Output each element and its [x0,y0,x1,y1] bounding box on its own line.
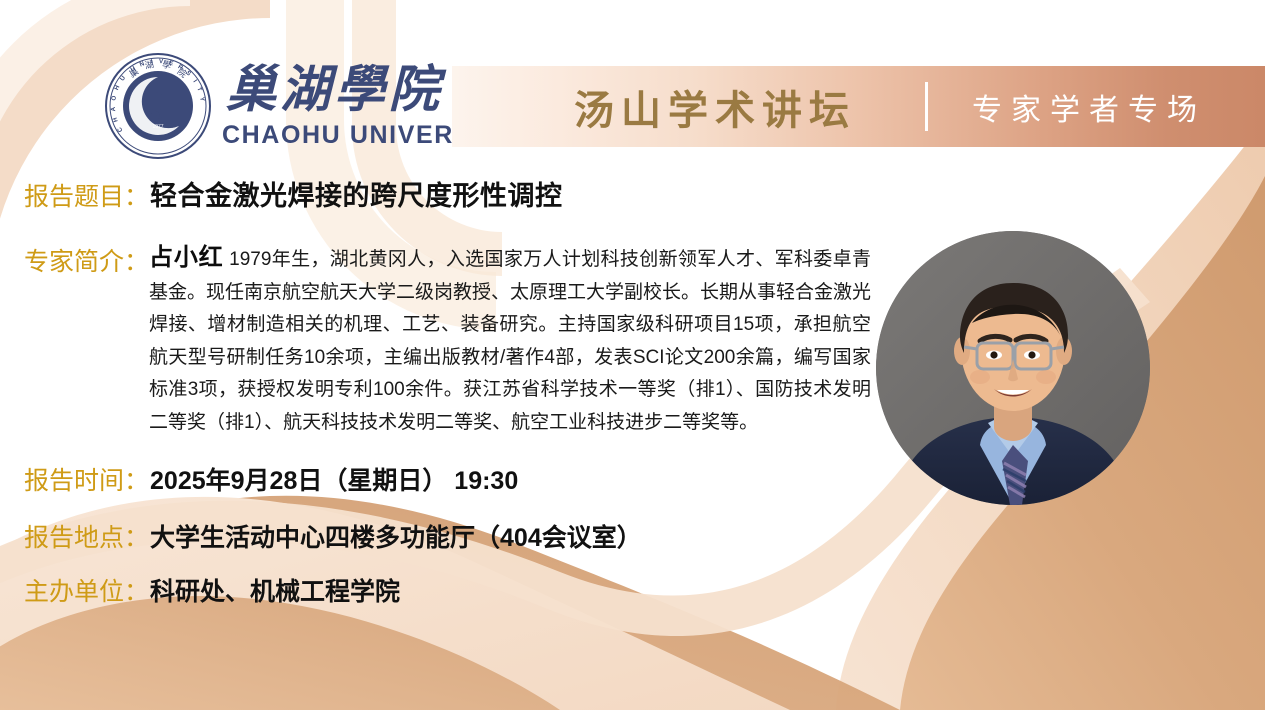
speaker-bio-body: 1979年生，湖北黄冈人，入选国家万人计划科技创新领军人才、军科委卓青基金。现任… [149,249,871,433]
speaker-bio-label: 专家简介： [24,242,149,278]
report-title-label: 报告题目： [24,177,149,213]
report-host-value: 科研处、机械工程学院 [150,572,400,608]
lecture-poster: 1977 C H A O H U U N I V E R S I T [0,0,1265,710]
speaker-name: 占小红 [149,244,224,271]
report-place-label: 报告地点： [24,518,149,554]
speaker-bio-row: 专家简介： 占小红 1979年生，湖北黄冈人，入选国家万人计划科技创新领军人才、… [24,242,874,439]
speaker-bio-text: 占小红 1979年生，湖北黄冈人，入选国家万人计划科技创新领军人才、军科委卓青基… [149,242,871,439]
report-place-row: 报告地点： 大学生活动中心四楼多功能厅（404会议室） [24,518,642,554]
report-time-row: 报告时间： 2025年9月28日（星期日） 19:30 [24,461,518,497]
report-title-row: 报告题目： 轻合金激光焊接的跨尺度形性调控 [24,174,563,213]
report-host-row: 主办单位： 科研处、机械工程学院 [24,572,400,608]
report-time-value: 2025年9月28日（星期日） 19:30 [150,461,518,497]
report-place-value: 大学生活动中心四楼多功能厅（404会议室） [150,518,642,554]
report-time-label: 报告时间： [24,461,149,497]
report-host-label: 主办单位： [24,572,149,608]
report-title-value: 轻合金激光焊接的跨尺度形性调控 [150,174,563,213]
speaker-portrait [876,231,1150,505]
